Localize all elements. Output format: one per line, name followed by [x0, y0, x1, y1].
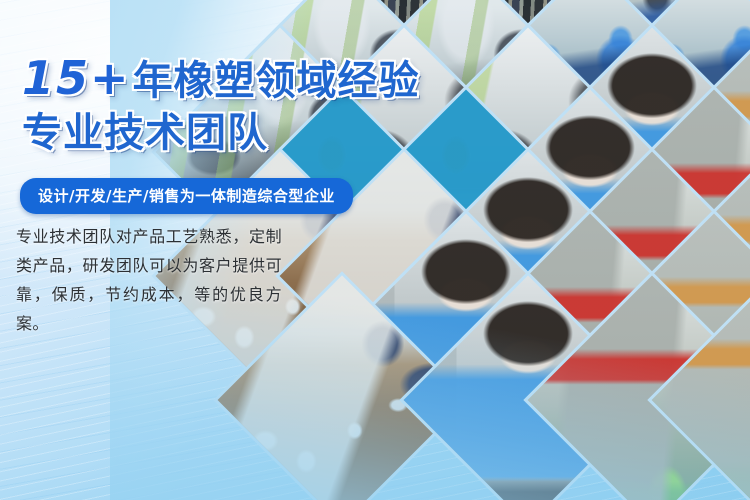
- subtitle-pill: 设计/开发/生产/销售为一体制造综合型企业: [20, 178, 353, 214]
- body-copy: 专业技术团队对产品工艺熟悉，定制类产品，研发团队可以为客户提供可靠，保质，节约成…: [16, 222, 282, 338]
- headline-line-2-text: 专业技术团队: [22, 110, 268, 156]
- years-number: 15+: [22, 51, 131, 105]
- headline-line-1-text: 年橡塑领域经验: [133, 58, 420, 104]
- promo-banner: 15+年橡塑领域经验 专业技术团队 设计/开发/生产/销售为一体制造综合型企业 …: [0, 0, 750, 500]
- headline-line-1: 15+年橡塑领域经验: [22, 52, 452, 107]
- headline-line-2: 专业技术团队: [22, 107, 452, 159]
- headline-group: 15+年橡塑领域经验 专业技术团队: [22, 52, 452, 159]
